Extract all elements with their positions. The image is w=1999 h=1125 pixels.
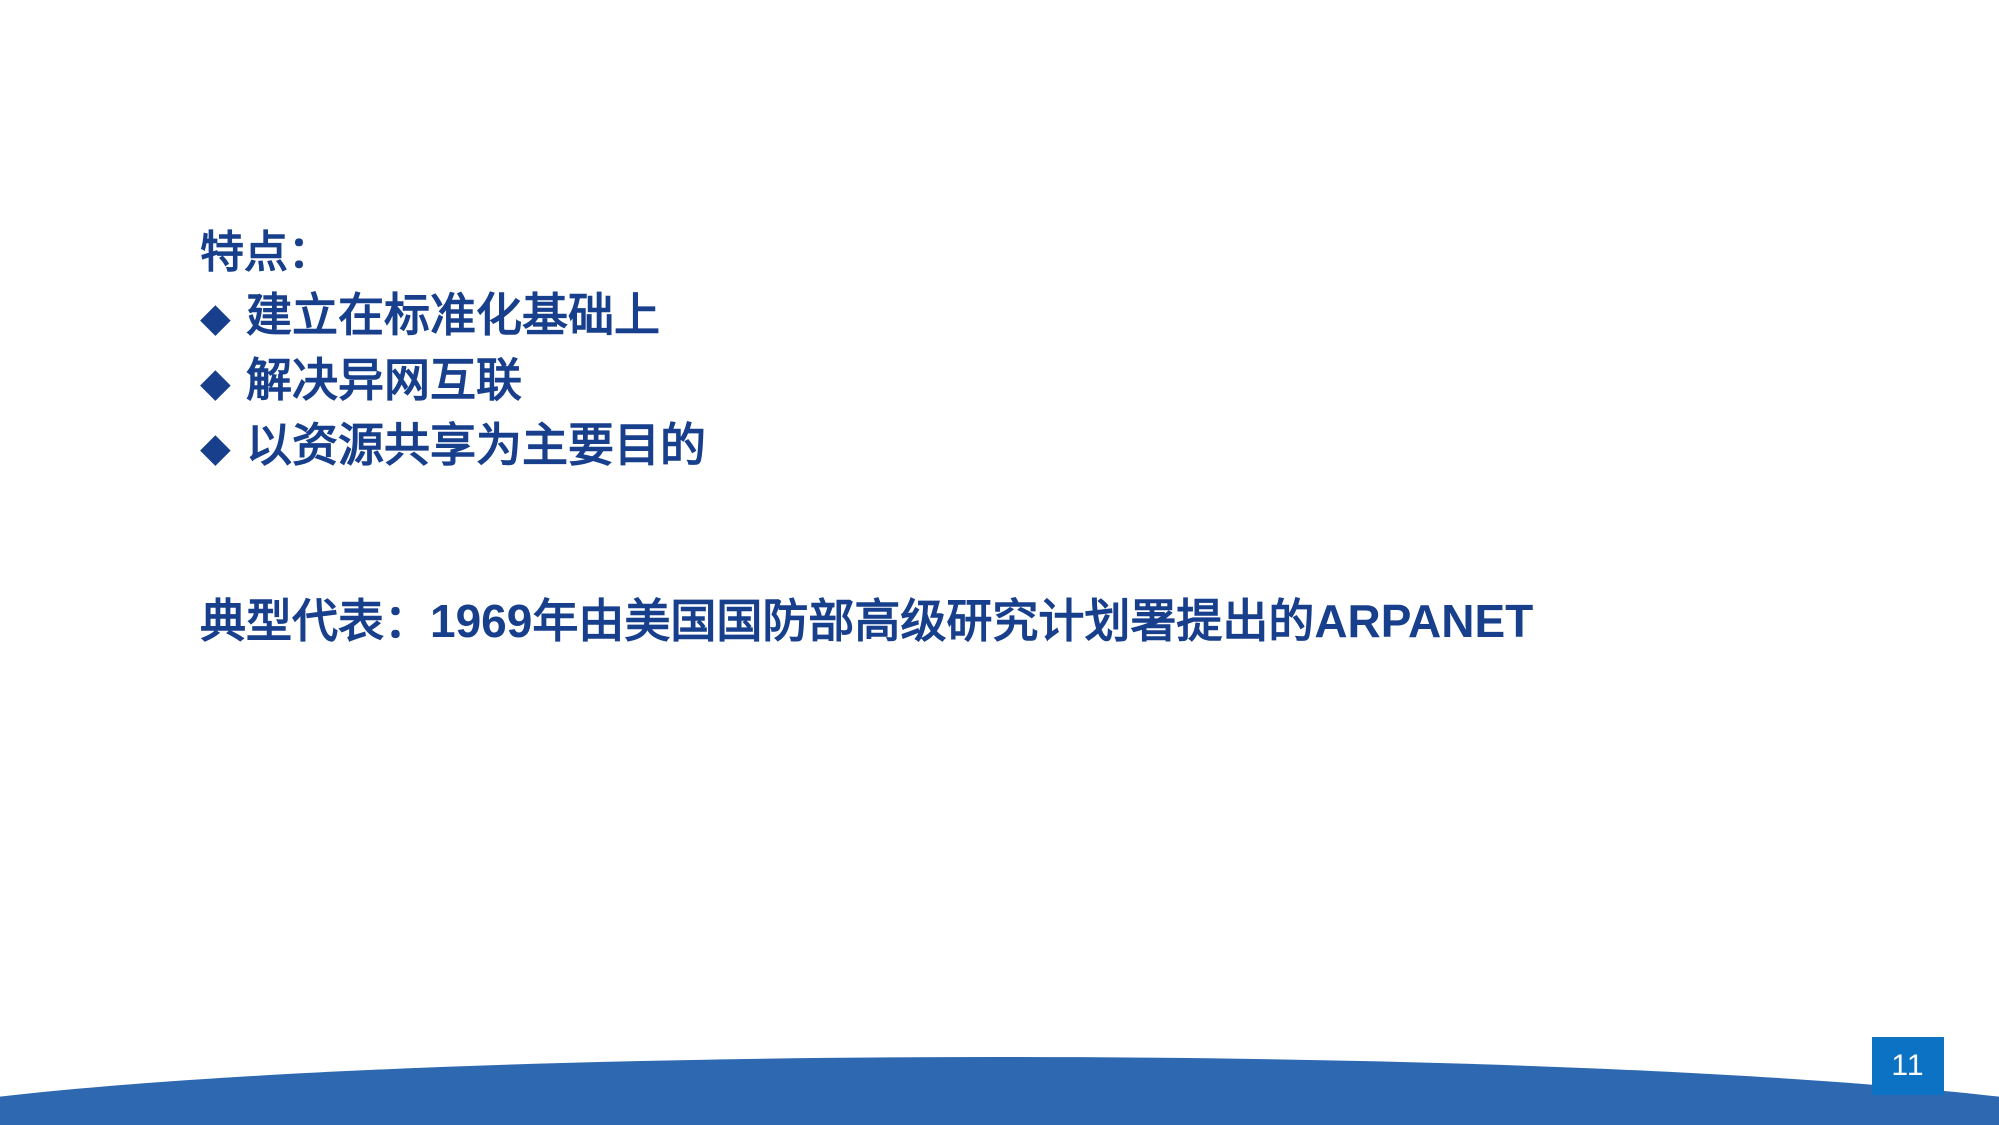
feature-bullet-list: ◆ 建立在标准化基础上 ◆ 解决异网互联 ◆ 以资源共享为主要目的 — [200, 284, 1900, 479]
list-item: ◆ 建立在标准化基础上 — [200, 284, 1900, 349]
presentation-slide: 特点： ◆ 建立在标准化基础上 ◆ 解决异网互联 ◆ 以资源共享为主要目的 典型… — [0, 0, 1999, 1125]
page-number-badge: 11 — [1872, 1037, 1944, 1095]
bullet-label: 解决异网互联 — [246, 349, 522, 411]
bullet-label: 以资源共享为主要目的 — [246, 414, 706, 476]
feature-heading: 特点： — [200, 222, 1900, 284]
diamond-bullet-icon: ◆ — [200, 417, 246, 479]
diamond-bullet-icon: ◆ — [200, 287, 246, 349]
list-item: ◆ 以资源共享为主要目的 — [200, 414, 1900, 479]
bottom-arc-decoration — [0, 1035, 1999, 1125]
typical-example-line: 典型代表：1969年由美国国防部高级研究计划署提出的ARPANET — [200, 590, 1533, 652]
diamond-bullet-icon: ◆ — [200, 352, 246, 414]
bullet-label: 建立在标准化基础上 — [246, 284, 660, 346]
list-item: ◆ 解决异网互联 — [200, 349, 1900, 414]
slide-content-block: 特点： ◆ 建立在标准化基础上 ◆ 解决异网互联 ◆ 以资源共享为主要目的 — [200, 222, 1900, 479]
